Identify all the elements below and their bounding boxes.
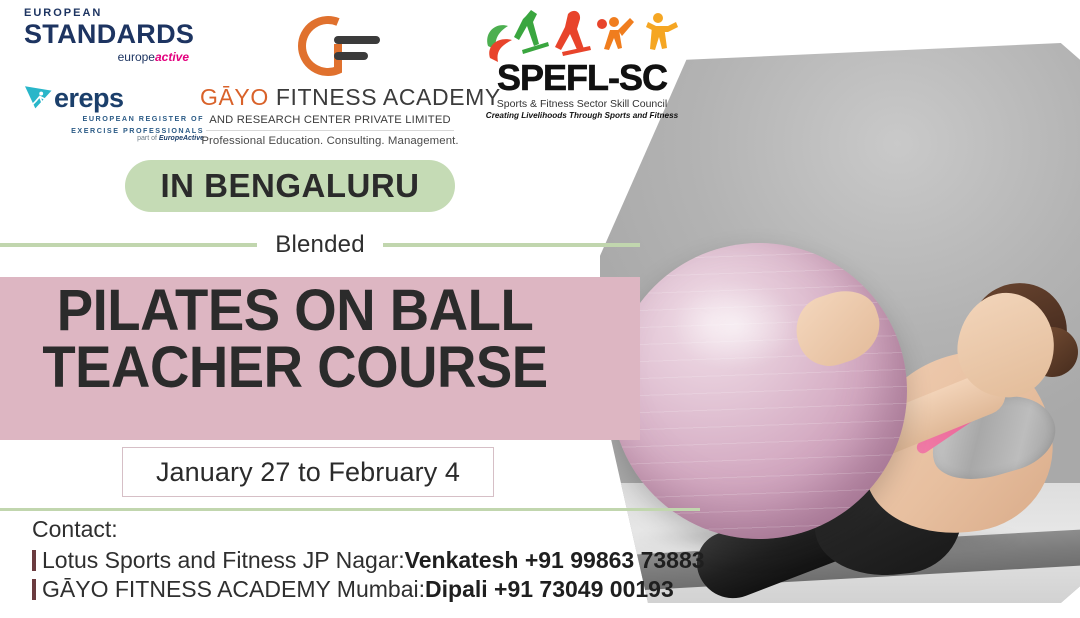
standards-wordmark: STANDARDS xyxy=(24,21,194,48)
contact-heading: Contact: xyxy=(32,516,752,543)
gayo-tagline: Professional Education. Consulting. Mana… xyxy=(200,135,460,147)
contact-person-phone: Venkatesh +91 99863 73883 xyxy=(405,546,705,575)
course-date-label: January 27 to February 4 xyxy=(156,457,460,488)
flyer-canvas: EUROPEAN STANDARDS europeactive ere xyxy=(0,0,1080,618)
spefl-tagline-2: Creating Livelihoods Through Sports and … xyxy=(482,111,682,120)
european-standards-logo: EUROPEAN STANDARDS europeactive xyxy=(24,8,189,64)
ereps-running-figure-icon xyxy=(24,84,54,112)
ereps-tagline-1: EUROPEAN REGISTER OF xyxy=(24,114,204,124)
gayo-fitness-academy-logo: GĀYO FITNESS ACADEMY AND RESEARCH CENTER… xyxy=(200,10,460,147)
blended-rule-left xyxy=(0,243,257,247)
bullet-bar-icon xyxy=(32,579,36,600)
contact-section: Contact: Lotus Sports and Fitness JP Nag… xyxy=(32,516,752,605)
blended-divider: Blended xyxy=(0,228,640,262)
gayo-divider xyxy=(206,130,454,131)
standards-eyebrow: EUROPEAN xyxy=(24,8,194,19)
gayo-legal-name: AND RESEARCH CENTER PRIVATE LIMITED xyxy=(200,114,460,126)
ereps-wordmark: ereps xyxy=(54,85,124,112)
ereps-logo: ereps EUROPEAN REGISTER OF EXERCISE PROF… xyxy=(24,84,204,142)
exercise-ball-highlight xyxy=(670,281,800,370)
location-badge: IN BENGALURU xyxy=(125,160,455,212)
standards-europeactive-tagline: europeactive xyxy=(24,50,189,64)
course-title-line-1: PILATES ON BALL xyxy=(18,283,573,340)
bullet-bar-icon xyxy=(32,550,36,571)
spefl-tagline-1: Sports & Fitness Sector Skill Council xyxy=(482,98,682,110)
course-title-line-2: TEACHER COURSE xyxy=(18,340,573,397)
spefl-sc-logo: SPEFL-SC Sports & Fitness Sector Skill C… xyxy=(482,6,682,120)
contact-org: Lotus Sports and Fitness JP Nagar: xyxy=(42,546,405,575)
course-title: PILATES ON BALL TEACHER COURSE xyxy=(18,283,573,397)
logo-row: EUROPEAN STANDARDS europeactive ere xyxy=(0,0,700,150)
ereps-part-of: part of EuropeActive xyxy=(24,135,204,142)
course-date-box: January 27 to February 4 xyxy=(122,447,494,497)
contact-org: GĀYO FITNESS ACADEMY Mumbai: xyxy=(42,575,425,604)
contact-divider xyxy=(0,508,700,511)
spefl-athlete-figures-icon xyxy=(482,6,682,66)
location-badge-label: IN BENGALURU xyxy=(161,167,420,205)
blended-rule-right xyxy=(383,243,640,247)
contact-row: Lotus Sports and Fitness JP Nagar: Venka… xyxy=(32,546,752,575)
contact-person-phone: Dipali +91 73049 00193 xyxy=(425,575,674,604)
blended-label: Blended xyxy=(275,231,364,259)
exercise-ball xyxy=(611,243,907,539)
ereps-tagline-2: EXERCISE PROFESSIONALS xyxy=(24,126,204,136)
gayo-g-mark-icon xyxy=(200,10,460,82)
gayo-wordmark: GĀYO FITNESS ACADEMY xyxy=(200,84,460,111)
contact-row: GĀYO FITNESS ACADEMY Mumbai: Dipali +91 … xyxy=(32,575,752,604)
